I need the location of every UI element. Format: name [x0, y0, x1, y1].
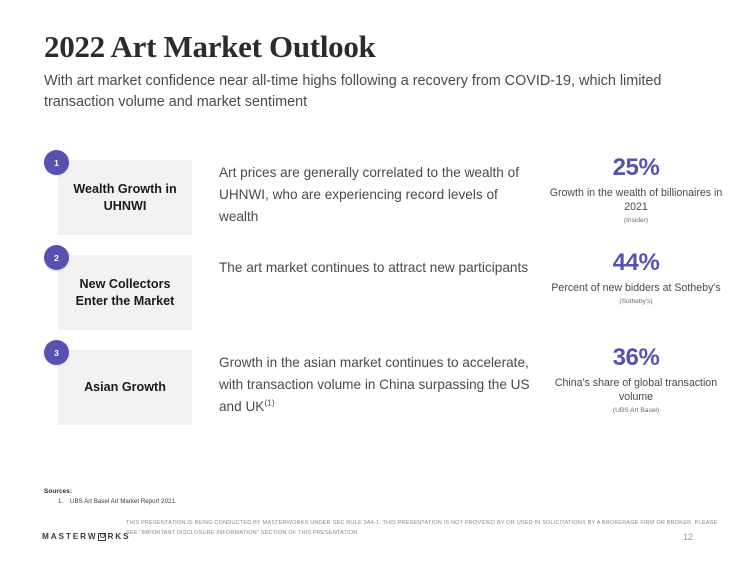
sources-block: Sources: 1. UBS Art Basel Art Market Rep…: [44, 488, 177, 505]
row-badge-2: 2: [44, 245, 69, 270]
stat-description: China's share of global transaction volu…: [546, 376, 726, 404]
row-body-text: Art prices are generally correlated to t…: [219, 165, 519, 224]
logo-text-before: MASTERW: [42, 532, 97, 541]
page-subtitle: With art market confidence near all-time…: [44, 71, 704, 113]
row-badge-1: 1: [44, 150, 69, 175]
slide-canvas: 2022 Art Market Outlook With art market …: [0, 0, 750, 563]
row-body-2: The art market continues to attract new …: [219, 257, 539, 279]
content-row: 2 New Collectors Enter the Market The ar…: [0, 245, 750, 340]
sources-item: 1. UBS Art Basel Art Market Report 2021.: [44, 498, 177, 505]
stat-source: (Sotheby's): [546, 297, 726, 306]
row-label-text: Asian Growth: [78, 379, 172, 396]
row-label-text: Wealth Growth in UHNWI: [58, 181, 192, 215]
row-badge-3: 3: [44, 340, 69, 365]
sources-item-text: UBS Art Basel Art Market Report 2021.: [70, 498, 177, 505]
row-label-box-1: Wealth Growth in UHNWI: [58, 160, 192, 235]
stat-source: (Insider): [546, 216, 726, 225]
row-body-superscript: (1): [264, 397, 274, 407]
stat-description: Growth in the wealth of billionaires in …: [546, 186, 726, 214]
stat-source: (UBS Art Basel): [546, 406, 726, 415]
row-stat-1: 25% Growth in the wealth of billionaires…: [546, 154, 726, 225]
stat-description: Percent of new bidders at Sotheby's: [546, 281, 726, 295]
row-label-box-3: Asian Growth: [58, 350, 192, 425]
content-row: 1 Wealth Growth in UHNWI Art prices are …: [0, 150, 750, 245]
sources-item-number: 1.: [44, 498, 70, 505]
logo-boxed-o-icon: O: [98, 533, 106, 541]
stat-value: 44%: [546, 249, 726, 277]
row-stat-3: 36% China's share of global transaction …: [546, 344, 726, 415]
stat-value: 25%: [546, 154, 726, 182]
masterworks-logo: MASTERWORKS: [42, 532, 130, 541]
row-stat-2: 44% Percent of new bidders at Sotheby's …: [546, 249, 726, 306]
content-rows: 1 Wealth Growth in UHNWI Art prices are …: [0, 150, 750, 435]
row-label-box-2: New Collectors Enter the Market: [58, 255, 192, 330]
stat-value: 36%: [546, 344, 726, 372]
row-body-1: Art prices are generally correlated to t…: [219, 162, 539, 228]
page-number: 12: [683, 532, 693, 542]
row-label-text: New Collectors Enter the Market: [58, 276, 192, 310]
sources-heading: Sources:: [44, 488, 177, 495]
legal-disclaimer: THIS PRESENTATION IS BEING CONDUCTED BY …: [126, 519, 726, 538]
content-row: 3 Asian Growth Growth in the asian marke…: [0, 340, 750, 435]
page-title: 2022 Art Market Outlook: [44, 29, 375, 65]
row-body-3: Growth in the asian market continues to …: [219, 352, 539, 418]
row-body-text: The art market continues to attract new …: [219, 260, 528, 275]
